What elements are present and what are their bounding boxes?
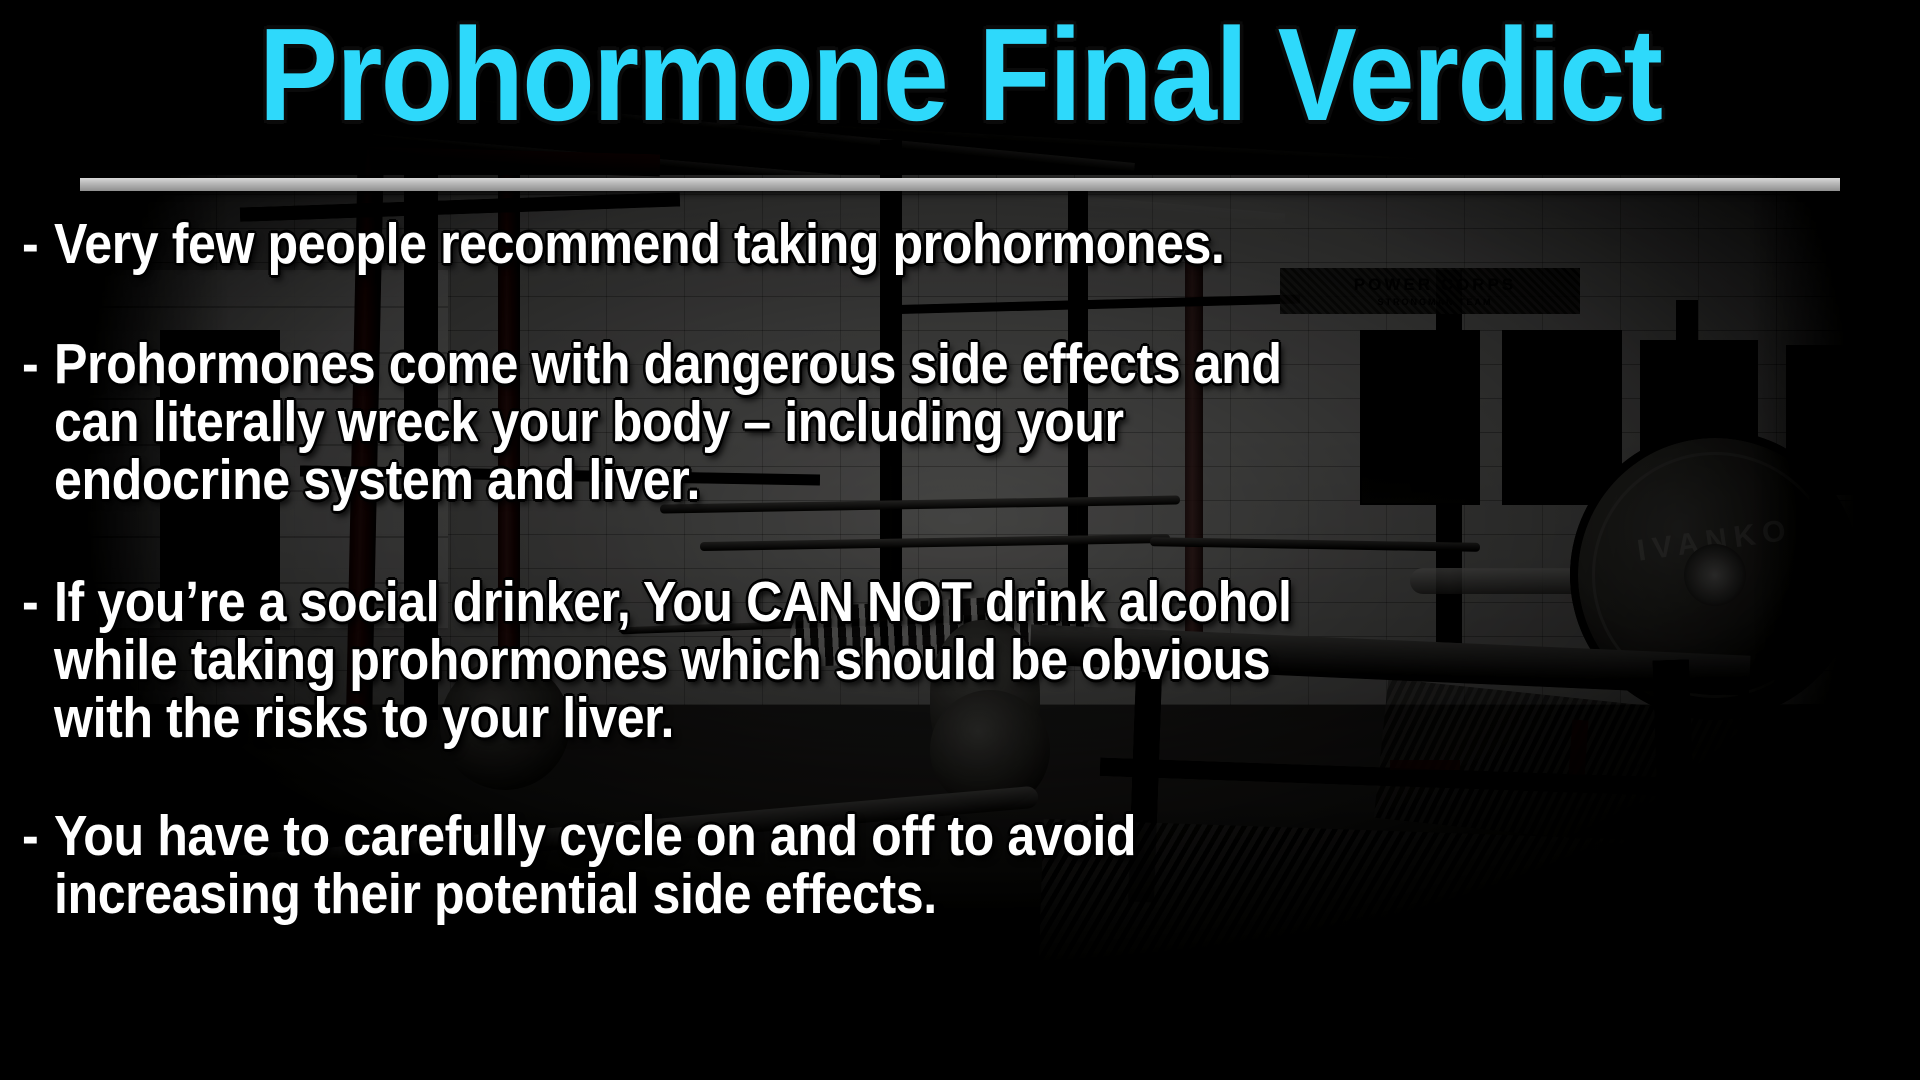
bullet-list: - Very few people recommend taking proho…: [22, 215, 1880, 923]
bullet-line: Very few people recommend taking prohorm…: [54, 215, 1660, 273]
title-divider: [80, 178, 1840, 191]
bullet-line: endocrine system and liver.: [54, 451, 1660, 509]
bullet-marker: -: [22, 335, 51, 393]
bullet-item: - Prohormones come with dangerous side e…: [22, 335, 1880, 509]
bullet-marker: -: [22, 807, 51, 865]
bullet-text: If you’re a social drinker, You CAN NOT …: [54, 573, 1660, 747]
bullet-item: - Very few people recommend taking proho…: [22, 215, 1880, 273]
bullet-line: while taking prohormones which should be…: [54, 631, 1660, 689]
bullet-item: - You have to carefully cycle on and off…: [22, 807, 1880, 923]
bullet-text: Very few people recommend taking prohorm…: [54, 215, 1660, 273]
bullet-line: with the risks to your liver.: [54, 689, 1660, 747]
bullet-line: If you’re a social drinker, You CAN NOT …: [54, 573, 1660, 631]
bullet-line: Prohormones come with dangerous side eff…: [54, 335, 1660, 393]
bullet-line: increasing their potential side effects.: [54, 865, 1660, 923]
bullet-marker: -: [22, 573, 51, 631]
slide-content: Prohormone Final Verdict - Very few peop…: [0, 0, 1920, 1080]
bullet-line: can literally wreck your body – includin…: [54, 393, 1660, 451]
bullet-item: - If you’re a social drinker, You CAN NO…: [22, 573, 1880, 747]
bullet-text: You have to carefully cycle on and off t…: [54, 807, 1660, 923]
bullet-text: Prohormones come with dangerous side eff…: [54, 335, 1660, 509]
slide-root: POWER CORPS STRONGMAN TEAM IVANKO 45: [0, 0, 1920, 1080]
slide-title: Prohormone Final Verdict: [96, 8, 1824, 143]
bullet-marker: -: [22, 215, 51, 273]
bullet-line: You have to carefully cycle on and off t…: [54, 807, 1660, 865]
